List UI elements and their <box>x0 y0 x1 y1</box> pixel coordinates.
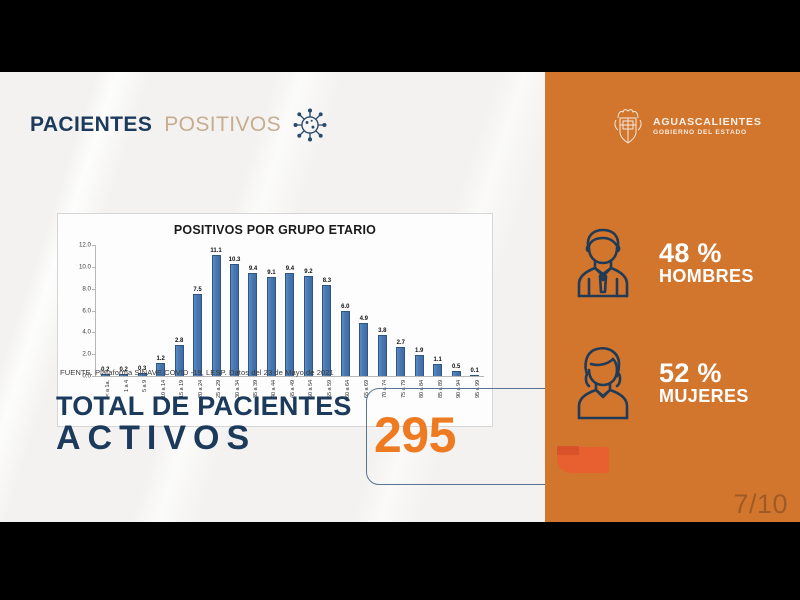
chart-bar-group: 3.8 <box>373 245 391 376</box>
chart-y-tick-mark <box>92 245 95 246</box>
chart-bar <box>322 285 331 376</box>
chart-bar <box>359 323 368 376</box>
chart-bar-value-label: 1.1 <box>434 357 442 363</box>
coat-of-arms-icon <box>611 106 645 146</box>
decorative-red-shape-accent <box>557 446 579 455</box>
chart-bar-group: 0.5 <box>447 245 465 376</box>
chart-bar-group: 0.1 <box>465 245 483 376</box>
chart-bar-group: 11.1 <box>207 245 225 376</box>
chart-y-tick: 6.0 <box>82 307 91 314</box>
chart-bar-group: 2.7 <box>392 245 410 376</box>
women-percent: 52 % <box>659 359 749 388</box>
chart-bar-group: 0.2 <box>96 245 114 376</box>
chart-bar <box>193 294 202 376</box>
woman-avatar-icon <box>567 344 639 422</box>
women-label: MUJERES <box>659 387 749 407</box>
government-name: AGUASCALIENTES <box>653 116 762 128</box>
chart-y-tick: 4.0 <box>82 329 91 336</box>
chart-bar <box>415 355 424 376</box>
men-percent: 48 % <box>659 239 754 268</box>
chart-y-tick: 12.0 <box>79 242 91 249</box>
man-avatar-icon <box>567 224 639 302</box>
chart-bar <box>378 335 387 376</box>
chart-bar <box>285 273 294 376</box>
chart-y-tick-mark <box>92 311 95 312</box>
chart-title: POSITIVOS POR GRUPO ETARIO <box>58 223 492 237</box>
chart-bar <box>267 277 276 376</box>
chart-bar-group: 0.3 <box>133 245 151 376</box>
chart-bar-group: 7.5 <box>188 245 206 376</box>
header-title-bold: PACIENTES <box>30 113 152 137</box>
slide-root: PACIENTES POSITIVOS <box>0 72 800 522</box>
chart-bar <box>212 255 221 376</box>
chart-bars: 0.20.20.31.22.87.511.110.39.49.19.49.28.… <box>96 245 484 376</box>
men-label: HOMBRES <box>659 267 754 287</box>
chart-bar-group: 9.1 <box>262 245 280 376</box>
chart-bar-value-label: 11.1 <box>210 248 221 254</box>
chart-y-axis: 0.02.04.06.08.010.012.0 <box>68 245 94 376</box>
chart-bar-value-label: 9.4 <box>286 266 294 272</box>
chart-bar-group: 6.0 <box>336 245 354 376</box>
total-active-patients-block: TOTAL DE PACIENTES ACTIVOS 295 <box>56 392 526 492</box>
chart-bar-value-label: 3.8 <box>378 328 386 334</box>
chart-bar-value-label: 2.7 <box>397 340 405 346</box>
chart-bar-group: 1.1 <box>428 245 446 376</box>
chart-bar-value-label: 7.5 <box>193 287 201 293</box>
chart-bar <box>230 264 239 376</box>
page-indicator: 7/10 <box>733 489 788 520</box>
section-header: PACIENTES POSITIVOS <box>30 108 327 142</box>
gender-stat-men: 48 % HOMBRES <box>567 224 754 302</box>
chart-bar-value-label: 8.3 <box>323 278 331 284</box>
chart-bar <box>304 276 313 376</box>
chart-y-tick: 10.0 <box>79 263 91 270</box>
chart-bar-value-label: 9.1 <box>267 270 275 276</box>
chart-bar-value-label: 9.4 <box>249 266 257 272</box>
chart-bar-group: 1.2 <box>151 245 169 376</box>
government-logo: AGUASCALIENTES GOBIERNO DEL ESTADO <box>611 106 762 146</box>
chart-bar <box>396 347 405 376</box>
virus-icon <box>293 108 327 142</box>
chart-y-tick-mark <box>92 332 95 333</box>
chart-y-tick: 2.0 <box>82 351 91 358</box>
chart-y-tick: 8.0 <box>82 285 91 292</box>
chart-bar-value-label: 4.9 <box>360 316 368 322</box>
chart-bar <box>433 364 442 376</box>
chart-y-tick-mark <box>92 354 95 355</box>
chart-bar-group: 2.8 <box>170 245 188 376</box>
chart-bar-group: 1.9 <box>410 245 428 376</box>
chart-bar-group: 4.9 <box>355 245 373 376</box>
chart-y-tick-mark <box>92 267 95 268</box>
chart-bar <box>341 311 350 377</box>
gender-stat-women: 52 % MUJERES <box>567 344 749 422</box>
chart-bar-group: 10.3 <box>225 245 243 376</box>
chart-y-tick-mark <box>92 289 95 290</box>
chart-bar-group: 0.2 <box>114 245 132 376</box>
government-logo-text: AGUASCALIENTES GOBIERNO DEL ESTADO <box>653 116 762 135</box>
total-value: 295 <box>374 406 456 464</box>
chart-bar-value-label: 2.8 <box>175 338 183 344</box>
source-note: FUENTE. Plataforma SINAVE COVID -19, LES… <box>60 368 334 377</box>
gender-stat-women-text: 52 % MUJERES <box>659 359 749 407</box>
gender-stat-men-text: 48 % HOMBRES <box>659 239 754 287</box>
chart-bar-group: 9.2 <box>299 245 317 376</box>
chart-bar-value-label: 0.1 <box>470 368 478 374</box>
orange-sidebar-panel: AGUASCALIENTES GOBIERNO DEL ESTADO <box>545 72 800 522</box>
chart-bar-group: 9.4 <box>281 245 299 376</box>
chart-bar-value-label: 1.2 <box>156 356 164 362</box>
chart-bar-value-label: 9.2 <box>304 269 312 275</box>
chart-bar-group: 9.4 <box>244 245 262 376</box>
chart-bar-value-label: 0.5 <box>452 364 460 370</box>
government-subtitle: GOBIERNO DEL ESTADO <box>653 129 762 136</box>
chart-bar-value-label: 10.3 <box>229 257 241 263</box>
chart-bar <box>248 273 257 376</box>
chart-bar-group: 8.3 <box>318 245 336 376</box>
header-title-light: POSITIVOS <box>164 113 281 137</box>
chart-bar-value-label: 6.0 <box>341 304 349 310</box>
chart-bar-value-label: 1.9 <box>415 348 423 354</box>
